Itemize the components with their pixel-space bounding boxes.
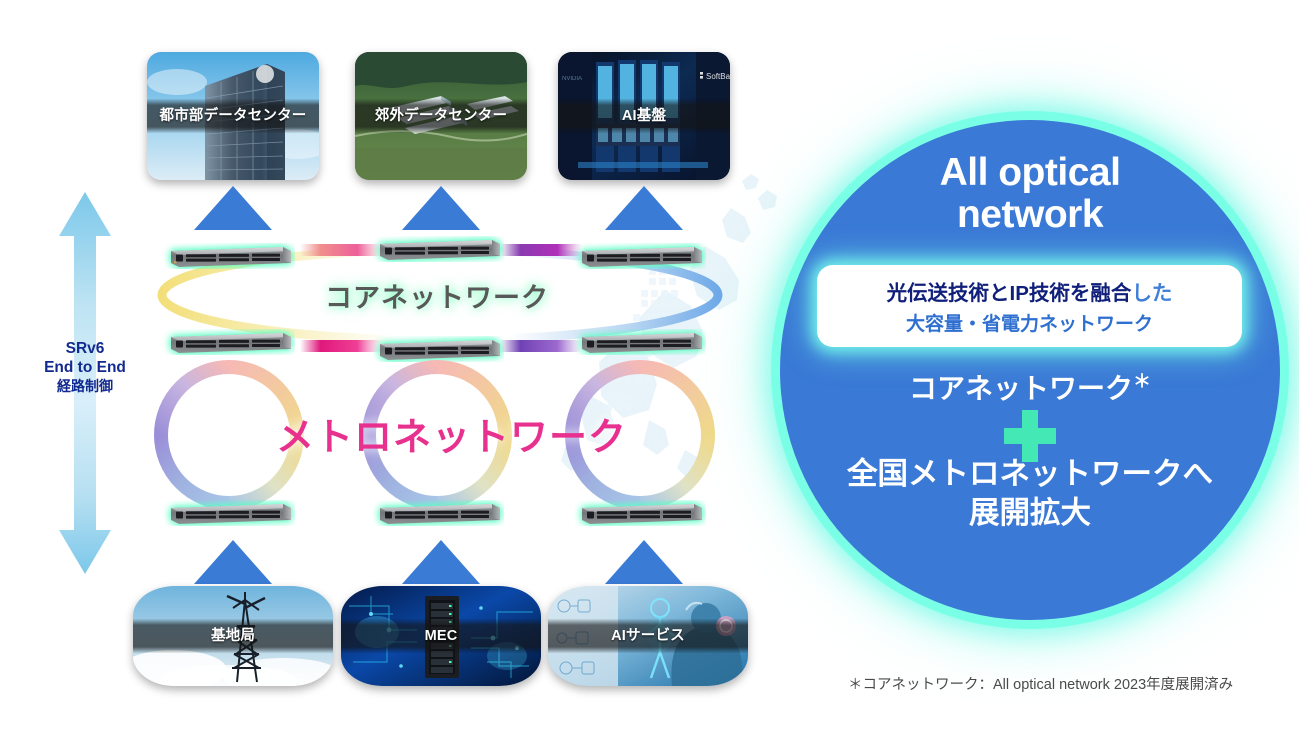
card-base-station[interactable]: 基地局 <box>133 586 333 686</box>
srv6-line2: End to End <box>10 359 160 378</box>
card-ai-infrastructure[interactable]: SoftBank NVIDIA AI基盤 <box>558 52 730 180</box>
switch-device <box>574 243 706 269</box>
panel-metro-network-line: 全国メトロネットワークへ 展開拡大 <box>770 455 1290 533</box>
panel-core-network-line: コアネットワーク＊ <box>780 367 1280 407</box>
switch-device <box>372 236 504 262</box>
card-label: AI基盤 <box>558 99 730 133</box>
card-suburban-datacenter[interactable]: 郊外データセンター <box>355 52 527 180</box>
highlight-tail: した <box>1131 282 1172 305</box>
highlight-box: 光伝送技術とIP技術を融合した 大容量・省電力ネットワーク <box>817 265 1242 347</box>
panel-title-line1: All optical <box>780 152 1280 194</box>
card-label: 都市部データセンター <box>147 99 319 133</box>
card-ai-service[interactable]: AIサービス <box>548 586 748 686</box>
switch-device <box>574 500 706 526</box>
card-urban-datacenter[interactable]: 都市部データセンター <box>147 52 319 180</box>
core-link-pink <box>300 244 382 256</box>
panel-title-line2: network <box>780 194 1280 236</box>
highlight-box-line1: 光伝送技術とIP技術を融合した <box>887 276 1173 306</box>
footnote: ＊コアネットワーク：All optical network 2023年度展開済み <box>848 673 1233 694</box>
highlight-box-line2: 大容量・省電力ネットワーク <box>906 309 1153 336</box>
core-network-label: コアネットワーク <box>325 276 549 315</box>
panel-metro-line2: 展開拡大 <box>770 494 1290 533</box>
switch-device <box>163 243 295 269</box>
card-mec[interactable]: MEC <box>341 586 541 686</box>
triangle-up-icon <box>402 186 480 230</box>
triangle-up-icon <box>605 186 683 230</box>
core-link-magenta <box>300 340 382 352</box>
highlight-strong: 光伝送技術とIP技術を融合 <box>887 282 1132 305</box>
panel-core-asterisk: ＊ <box>1133 372 1151 392</box>
triangle-up-icon <box>605 540 683 584</box>
card-label: MEC <box>341 619 541 653</box>
panel-title: All optical network <box>780 152 1280 235</box>
network-architecture-diagram: 都市部データセンター <box>0 0 800 731</box>
triangle-up-icon <box>194 186 272 230</box>
uplink-arrows-bottom <box>0 540 800 586</box>
core-link-purple <box>500 244 582 256</box>
slide-root: 都市部データセンター <box>0 0 1299 731</box>
panel-metro-line1: 全国メトロネットワークへ <box>770 455 1290 494</box>
uplink-arrows-top <box>0 186 800 232</box>
triangle-up-icon <box>194 540 272 584</box>
card-label: 基地局 <box>133 619 333 653</box>
srv6-label: SRv6 End to End 経路制御 <box>10 340 160 395</box>
card-label: 郊外データセンター <box>355 99 527 133</box>
core-link-violet <box>500 340 582 352</box>
switch-device <box>372 500 504 526</box>
metro-network-label: メトロネットワーク <box>276 406 627 461</box>
srv6-line1: SRv6 <box>10 340 160 359</box>
svg-text:NVIDIA: NVIDIA <box>562 76 582 82</box>
svg-text:SoftBank: SoftBank <box>706 72 730 81</box>
card-label: AIサービス <box>548 619 748 653</box>
switch-device <box>163 500 295 526</box>
panel-core-network-text: コアネットワーク <box>909 373 1133 404</box>
srv6-line3: 経路制御 <box>10 378 160 395</box>
triangle-up-icon <box>402 540 480 584</box>
all-optical-network-panel: All optical network 光伝送技術とIP技術を融合した 大容量・… <box>760 0 1299 731</box>
